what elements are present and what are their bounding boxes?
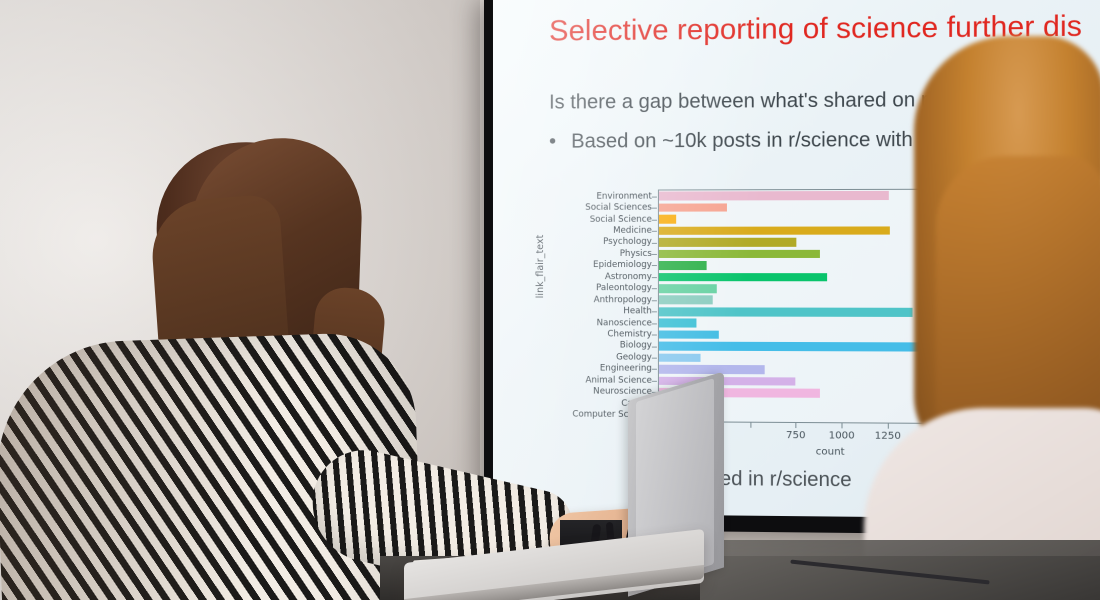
- x-tick-mark: [796, 423, 797, 428]
- y-tick-mark: [652, 288, 657, 289]
- bar-chemistry: [659, 330, 719, 339]
- x-axis-label: count: [816, 446, 845, 457]
- y-tick-mark: [652, 254, 657, 255]
- bar-environment: [659, 191, 889, 200]
- y-tick-label-epidemiology: Epidemiology: [593, 261, 652, 270]
- y-tick-label-environment: Environment: [596, 192, 651, 201]
- bar-engineering: [659, 365, 765, 374]
- y-tick-mark: [652, 219, 657, 220]
- y-tick-label-nanoscience: Nanoscience: [597, 319, 652, 328]
- x-tick-mark: [750, 423, 751, 428]
- bar-health: [659, 307, 913, 316]
- y-tick-label-biology: Biology: [620, 342, 652, 351]
- y-axis-label: link_flair_text: [535, 235, 546, 299]
- y-tick-mark: [652, 196, 657, 197]
- y-tick-mark: [652, 358, 657, 359]
- y-tick-label-medicine: Medicine: [613, 227, 652, 236]
- y-tick-mark: [652, 208, 657, 209]
- bar-paleontology: [659, 284, 717, 293]
- y-tick-mark: [652, 300, 657, 301]
- desk-surface-right: [700, 540, 1100, 600]
- meeting-room-scene: Selective reporting of science further d…: [0, 0, 1100, 600]
- y-tick-label-physics: Physics: [620, 250, 652, 259]
- attendee-figure: [914, 36, 1100, 600]
- y-tick-label-social-science: Social Science: [590, 215, 652, 224]
- bullet-marker-icon: •: [549, 131, 571, 154]
- x-tick-mark: [888, 424, 889, 429]
- y-tick-label-health: Health: [623, 307, 652, 316]
- bar-epidemiology: [659, 261, 706, 270]
- slide-bullet-text: Based on ~10k posts in r/science with us…: [571, 129, 952, 153]
- y-tick-label-social-sciences: Social Sciences: [585, 204, 652, 213]
- y-tick-mark: [652, 312, 657, 313]
- y-tick-mark: [652, 231, 657, 232]
- y-tick-mark: [652, 277, 657, 278]
- bar-social-sciences: [659, 203, 727, 212]
- y-tick-label-chemistry: Chemistry: [607, 330, 651, 339]
- bar-nanoscience: [659, 319, 696, 328]
- y-tick-label-anthropology: Anthropology: [594, 296, 652, 305]
- y-tick-label-astronomy: Astronomy: [605, 273, 652, 282]
- bar-medicine: [659, 226, 890, 235]
- y-tick-mark: [652, 242, 657, 243]
- y-axis-label-wrap: link_flair_text: [509, 256, 599, 270]
- y-tick-mark: [652, 335, 657, 336]
- x-tick-mark: [842, 423, 843, 428]
- bar-anthropology: [659, 296, 713, 305]
- laptop[interactable]: [404, 386, 734, 600]
- y-tick-label-engineering: Engineering: [600, 365, 652, 374]
- x-tick-label-1250: 1250: [875, 431, 901, 442]
- y-tick-label-paleontology: Paleontology: [596, 284, 652, 293]
- y-tick-label-psychology: Psychology: [603, 238, 652, 247]
- y-tick-label-animal-science: Animal Science: [585, 376, 651, 385]
- y-tick-mark: [652, 265, 657, 266]
- bar-geology: [659, 353, 701, 362]
- bar-social-science: [659, 215, 676, 224]
- x-tick-label-750: 750: [786, 430, 806, 441]
- y-tick-mark: [652, 381, 657, 382]
- bar-psychology: [659, 238, 797, 247]
- y-tick-label-geology: Geology: [616, 353, 652, 362]
- y-tick-mark: [652, 346, 657, 347]
- y-tick-mark: [652, 369, 657, 370]
- bar-physics: [659, 250, 820, 259]
- x-tick-label-1000: 1000: [829, 430, 855, 441]
- bar-astronomy: [659, 273, 827, 282]
- y-tick-mark: [652, 323, 657, 324]
